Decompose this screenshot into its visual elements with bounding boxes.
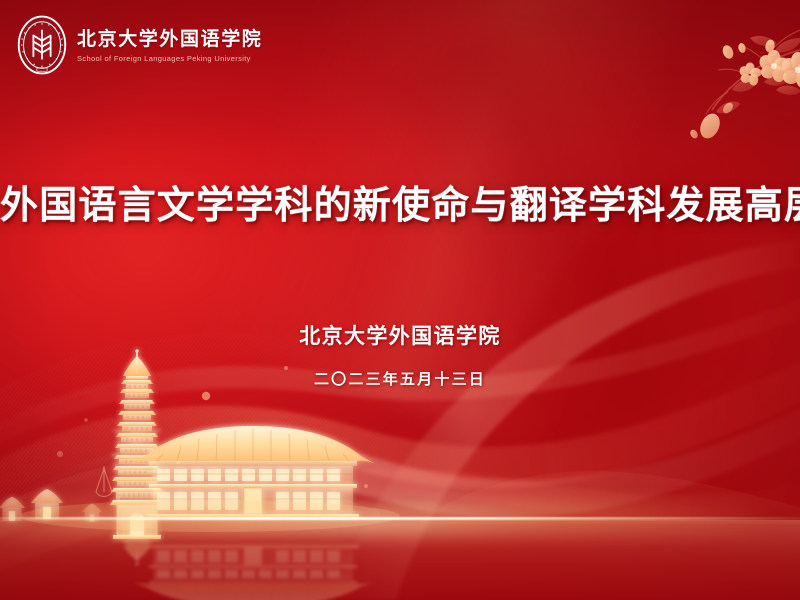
plum-blossom-branch-icon <box>650 8 800 158</box>
page-title: 外国语言文学学科的新使命与翻译学科发展高层论坛 <box>0 186 800 228</box>
peking-university-seal <box>16 14 68 76</box>
logo-name-cn: 北京大学外国语学院 <box>77 29 262 51</box>
logo-text-block: 北京大学外国语学院 School of Foreign Languages Pe… <box>77 27 262 63</box>
horizon-light-beam <box>0 517 800 520</box>
subtitle-container: 北京大学外国语学院 二〇二三年五月十三日 <box>0 320 800 389</box>
organizer-line: 北京大学外国语学院 <box>0 320 800 350</box>
institution-logo: 北京大学外国语学院 School of Foreign Languages Pe… <box>16 14 262 76</box>
logo-name-en: School of Foreign Languages Peking Unive… <box>77 54 262 63</box>
presentation-title-slide: 北京大学外国语学院 School of Foreign Languages Pe… <box>0 0 800 600</box>
event-date: 二〇二三年五月十三日 <box>0 368 800 389</box>
title-container: 外国语言文学学科的新使命与翻译学科发展高层论坛 <box>0 186 800 228</box>
